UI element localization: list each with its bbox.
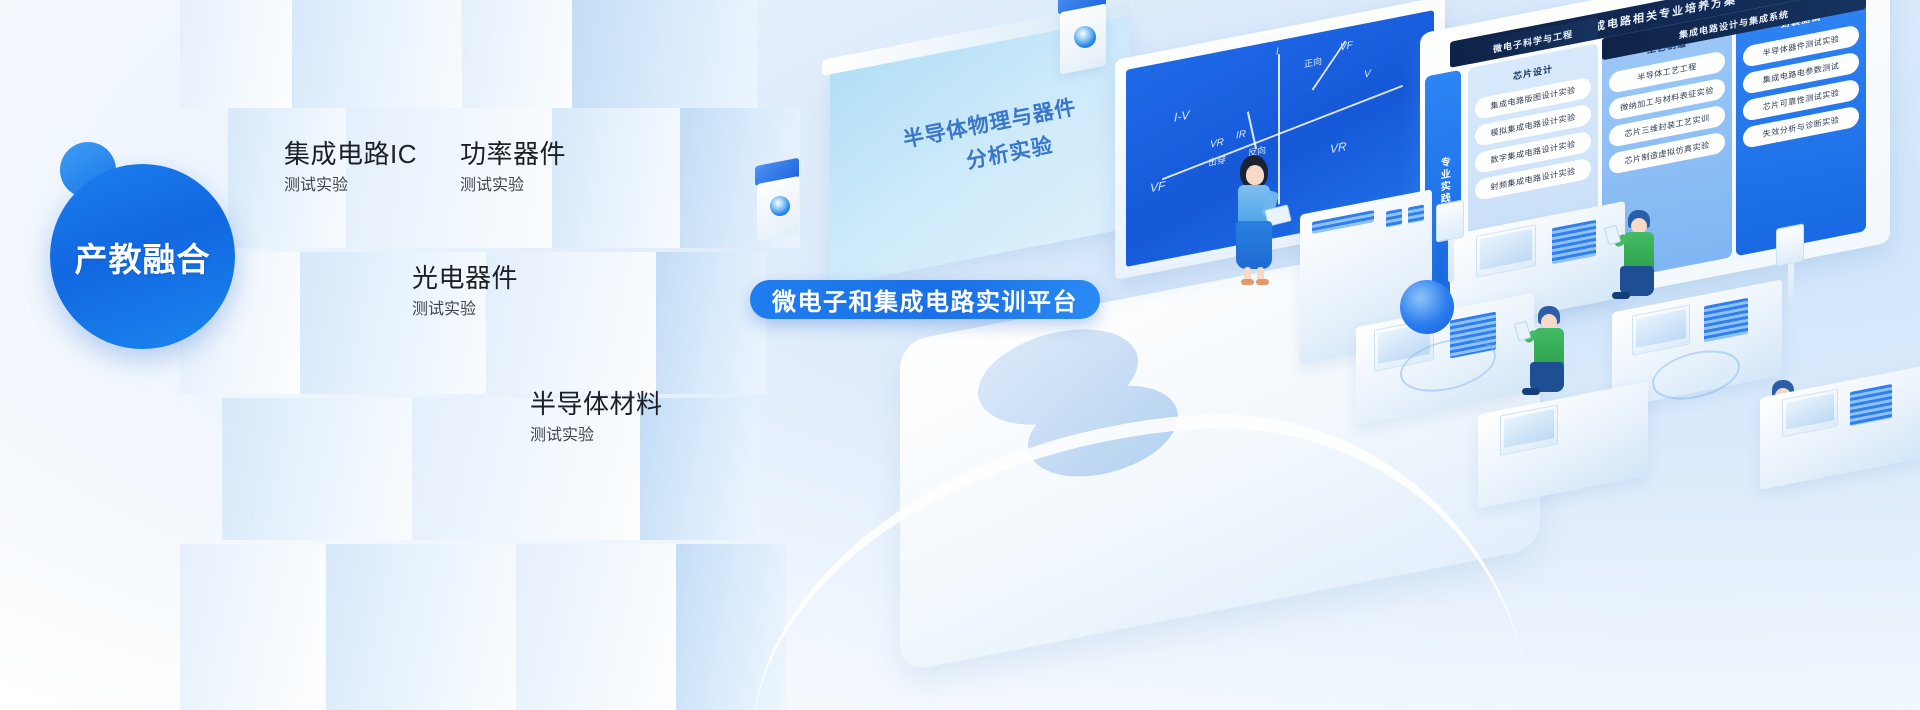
background-tile bbox=[222, 398, 412, 540]
hero-orb-icon bbox=[1400, 280, 1454, 334]
feature-title: 集成电路IC bbox=[284, 140, 417, 169]
feature-subtitle: 测试实验 bbox=[412, 301, 518, 319]
feature-subtitle: 测试实验 bbox=[530, 427, 663, 445]
feature-subtitle: 测试实验 bbox=[284, 177, 417, 195]
feature-item-power-device: 功率器件 测试实验 bbox=[460, 140, 566, 194]
instructor-skirt bbox=[1236, 221, 1272, 269]
iv-label-breakdown: 击穿 bbox=[1208, 152, 1226, 169]
wall-device-lens-icon bbox=[1074, 26, 1096, 48]
feature-title: 半导体材料 bbox=[530, 390, 663, 419]
iv-label-ir: IR bbox=[1236, 129, 1246, 142]
probe-screen bbox=[1776, 223, 1804, 266]
background-tile bbox=[516, 544, 676, 710]
platform-name-pill[interactable]: 微电子和集成电路实训平台 bbox=[750, 280, 1100, 319]
background-tile bbox=[292, 0, 462, 108]
background-tile bbox=[656, 252, 766, 394]
cabinet-indicator-block bbox=[1386, 208, 1402, 227]
student-shoe bbox=[1522, 388, 1540, 395]
background-tile bbox=[180, 0, 292, 108]
feature-item-optoelectronic: 光电器件 测试实验 bbox=[412, 264, 518, 318]
iv-label-vf-axis: VF bbox=[1150, 178, 1165, 195]
feature-item-ic: 集成电路IC 测试实验 bbox=[284, 140, 417, 194]
isometric-lab-illustration: 半导体物理与器件 分析实验 I-V I V VF 正向 反向 击穿 IR VR … bbox=[760, 0, 1920, 710]
chanjiao-ronghe-badge: 产教融合 bbox=[50, 142, 255, 347]
badge-label: 产教融合 bbox=[50, 164, 235, 349]
iv-chart-title: I-V bbox=[1174, 108, 1189, 125]
iv-label-voltage: V bbox=[1364, 68, 1371, 80]
instructor-face bbox=[1246, 165, 1264, 185]
instructor-shoe bbox=[1241, 279, 1254, 285]
feature-item-semiconductor-material: 半导体材料 测试实验 bbox=[530, 390, 663, 444]
feature-subtitle: 测试实验 bbox=[460, 177, 566, 195]
feature-title: 功率器件 bbox=[460, 140, 566, 169]
cabinet-indicator-block bbox=[1408, 204, 1424, 223]
instructor-shoe bbox=[1256, 279, 1269, 285]
probe-screen bbox=[1436, 199, 1464, 242]
feature-title: 光电器件 bbox=[412, 264, 518, 293]
instructor-figure bbox=[1230, 155, 1284, 285]
platform-name-label: 微电子和集成电路实训平台 bbox=[772, 282, 1078, 317]
iv-label-vr-axis: VR bbox=[1330, 139, 1347, 156]
student-torso bbox=[1624, 232, 1654, 270]
background-tile bbox=[462, 0, 572, 108]
iv-label-vr: VR bbox=[1210, 137, 1224, 151]
student-shoe bbox=[1612, 292, 1630, 299]
background-tile bbox=[572, 0, 757, 108]
background-tile bbox=[552, 108, 680, 248]
background-tile bbox=[326, 544, 516, 710]
promo-banner: 产教融合 集成电路IC 测试实验 功率器件 测试实验 光电器件 测试实验 半导体… bbox=[0, 0, 1920, 710]
iv-label-forward: 正向 bbox=[1304, 54, 1322, 71]
student-torso bbox=[1534, 328, 1564, 366]
iv-label-forward-vf: VF bbox=[1340, 40, 1353, 53]
iv-label-current: I bbox=[1276, 46, 1279, 58]
wall-device-lens-icon bbox=[770, 196, 790, 216]
curriculum-column-testing: 封装测试 半导体器件测试实验 集成电路电参数测试 芯片可靠性测试实验 失效分析与… bbox=[1736, 0, 1866, 256]
background-tile bbox=[180, 544, 326, 710]
